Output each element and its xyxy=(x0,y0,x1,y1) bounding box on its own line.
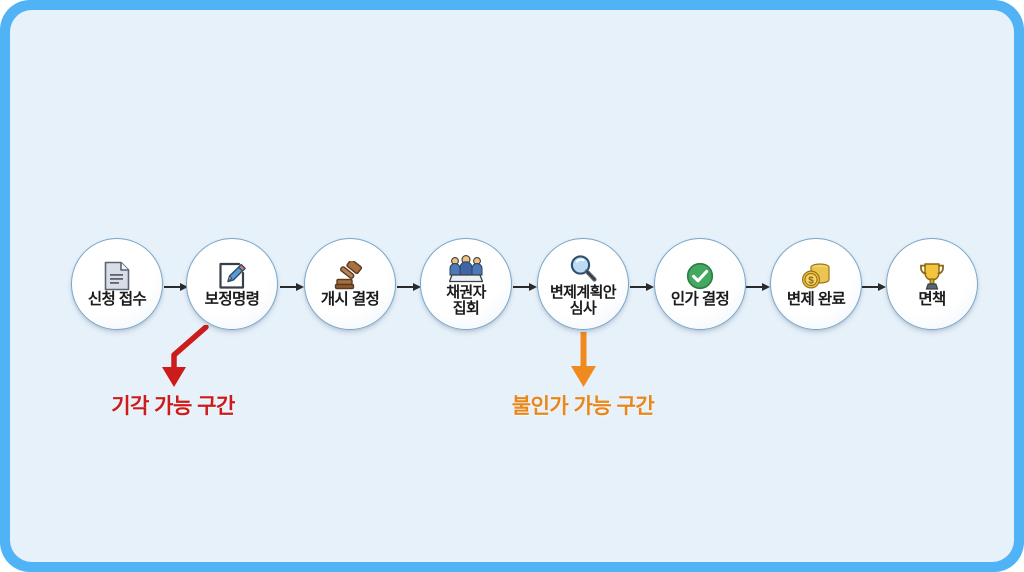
connector-arrow xyxy=(279,280,305,294)
gavel-icon xyxy=(333,261,367,291)
step-label: 인가 결정 xyxy=(668,292,732,309)
svg-text:$: $ xyxy=(808,276,814,287)
step-node-approval-decision[interactable]: 인가 결정 xyxy=(654,238,746,330)
step-label: 변제계획안 심사 xyxy=(547,285,619,317)
connector-arrow xyxy=(512,280,538,294)
document-icon xyxy=(100,261,134,291)
diagram-frame: 기각 가능 구간 불인가 가능 구간 xyxy=(0,0,1024,572)
coins-icon: $ xyxy=(799,261,833,291)
diagram-canvas: 기각 가능 구간 불인가 가능 구간 xyxy=(10,10,1014,562)
step-label: 보정명령 xyxy=(202,292,263,309)
connector-arrow xyxy=(745,280,771,294)
step-node-commencement-decision[interactable]: 개시 결정 xyxy=(304,238,396,330)
step-label: 채권자 집회 xyxy=(443,285,489,317)
step-node-repayment-plan-review[interactable]: 변제계획안 심사 xyxy=(537,238,629,330)
step-node-creditors-meeting[interactable]: 채권자 집회 xyxy=(420,238,512,330)
step-node-discharge[interactable]: 면책 xyxy=(886,238,978,330)
memo-pencil-icon xyxy=(215,261,249,291)
connector-arrow xyxy=(629,280,655,294)
step-label: 면책 xyxy=(915,292,948,309)
magnifier-icon xyxy=(566,254,600,284)
step-label: 신청 접수 xyxy=(85,292,149,309)
reject-branch-label: 기각 가능 구간 xyxy=(111,390,235,420)
connector-arrow xyxy=(396,280,422,294)
trophy-icon xyxy=(915,261,949,291)
process-flow-row: 신청 접수 보정명령 xyxy=(10,238,1014,350)
step-node-application-receipt[interactable]: 신청 접수 xyxy=(71,238,163,330)
step-node-correction-order[interactable]: 보정명령 xyxy=(186,238,278,330)
green-check-icon xyxy=(683,261,717,291)
step-node-repayment-complete[interactable]: $ 변제 완료 xyxy=(770,238,862,330)
connector-arrow xyxy=(861,280,887,294)
step-label: 개시 결정 xyxy=(318,292,382,309)
meeting-people-icon xyxy=(449,254,483,284)
deny-branch-label: 불인가 가능 구간 xyxy=(512,390,654,420)
step-label: 변제 완료 xyxy=(784,292,848,309)
